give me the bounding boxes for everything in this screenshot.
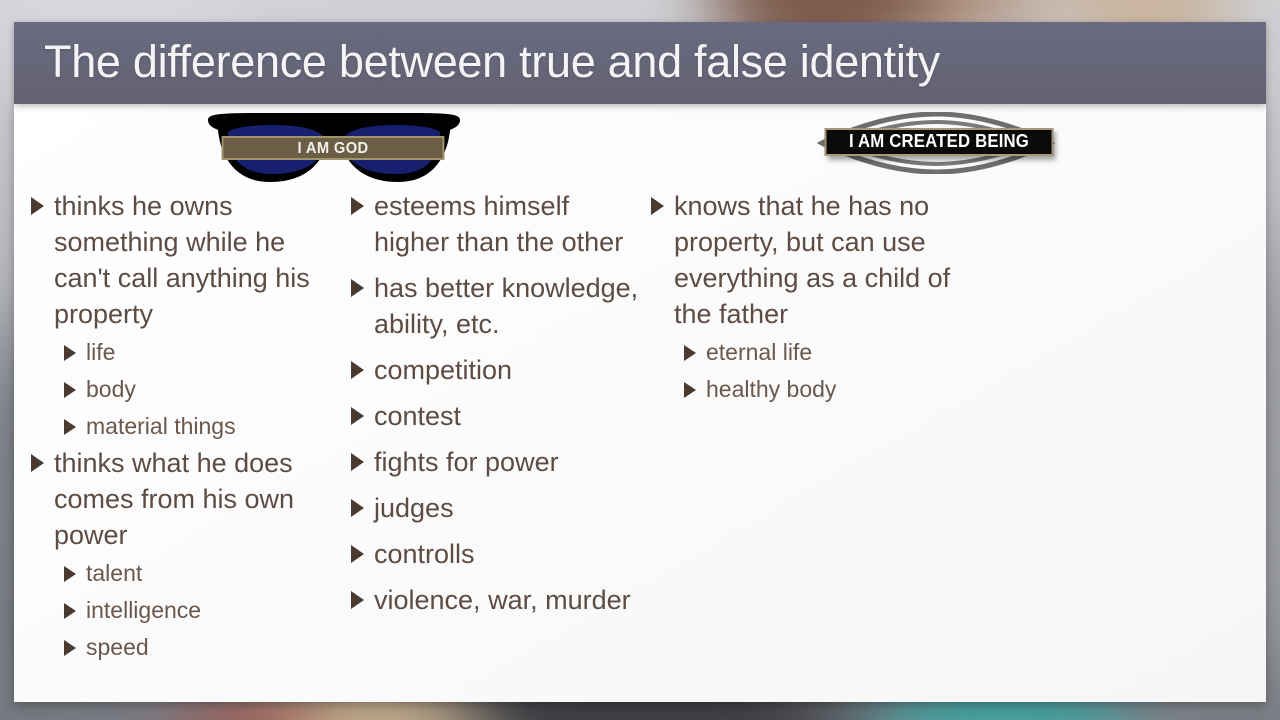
triangle-bullet-icon bbox=[64, 382, 76, 398]
sub-bullet-list: talent intelligence speed bbox=[28, 555, 348, 666]
sub-bullet-item: intelligence bbox=[56, 592, 348, 629]
sub-bullet-text: life bbox=[86, 339, 115, 365]
bullet-item: violence, war, murder bbox=[348, 582, 648, 618]
bullet-item: thinks what he does comes from his own p… bbox=[28, 445, 348, 553]
spacer bbox=[348, 262, 648, 270]
spacer bbox=[348, 436, 648, 444]
bullet-text: has better knowledge, ability, etc. bbox=[374, 273, 638, 339]
triangle-bullet-icon bbox=[351, 545, 364, 563]
sub-bullet-item: material things bbox=[56, 408, 348, 445]
column-1: thinks he owns something while he can't … bbox=[28, 188, 348, 666]
triangle-bullet-icon bbox=[351, 453, 364, 471]
triangle-bullet-icon bbox=[684, 382, 696, 398]
column-2: esteems himself higher than the other ha… bbox=[348, 188, 648, 620]
sub-bullet-item: body bbox=[56, 371, 348, 408]
column-3: knows that he has no property, but can u… bbox=[648, 188, 978, 408]
spacer bbox=[348, 574, 648, 582]
spacer bbox=[348, 528, 648, 536]
slide-stage: The difference between true and false id… bbox=[0, 0, 1280, 720]
i-am-god-banner: I AM GOD bbox=[222, 136, 445, 160]
bullet-text: thinks what he does comes from his own p… bbox=[54, 448, 294, 550]
sub-bullet-text: eternal life bbox=[706, 339, 812, 365]
sub-bullet-item: eternal life bbox=[676, 334, 978, 371]
spacer bbox=[348, 482, 648, 490]
triangle-bullet-icon bbox=[64, 640, 76, 656]
bullet-item: knows that he has no property, but can u… bbox=[648, 188, 978, 332]
triangle-bullet-icon bbox=[351, 591, 364, 609]
triangle-bullet-icon bbox=[351, 279, 364, 297]
sub-bullet-item: speed bbox=[56, 629, 348, 666]
bullet-item: thinks he owns something while he can't … bbox=[28, 188, 348, 332]
triangle-bullet-icon bbox=[64, 419, 76, 435]
lens-ring-graphic: I AM CREATED BEING bbox=[806, 112, 1066, 174]
bullet-text: controlls bbox=[374, 539, 475, 569]
sub-bullet-text: healthy body bbox=[706, 376, 836, 402]
sub-bullet-text: body bbox=[86, 376, 136, 402]
bullet-list-2: esteems himself higher than the other ha… bbox=[348, 188, 648, 618]
sub-bullet-list: life body material things bbox=[28, 334, 348, 445]
bullet-text: competition bbox=[374, 355, 512, 385]
triangle-bullet-icon bbox=[64, 566, 76, 582]
bullet-list-3: knows that he has no property, but can u… bbox=[648, 188, 978, 408]
bullet-item: esteems himself higher than the other bbox=[348, 188, 648, 260]
bullet-item: judges bbox=[348, 490, 648, 526]
triangle-bullet-icon bbox=[351, 361, 364, 379]
sub-bullet-text: material things bbox=[86, 413, 236, 439]
sub-bullet-item: life bbox=[56, 334, 348, 371]
bullet-item: has better knowledge, ability, etc. bbox=[348, 270, 648, 342]
bullet-text: violence, war, murder bbox=[374, 585, 631, 615]
sub-bullet-item: talent bbox=[56, 555, 348, 592]
triangle-bullet-icon bbox=[651, 197, 664, 215]
sub-bullet-text: intelligence bbox=[86, 597, 201, 623]
triangle-bullet-icon bbox=[31, 197, 44, 215]
triangle-bullet-icon bbox=[351, 407, 364, 425]
bullet-text: judges bbox=[374, 493, 454, 523]
triangle-bullet-icon bbox=[31, 454, 44, 472]
sunglasses-graphic: I AM GOD bbox=[198, 112, 470, 188]
bullet-item: controlls bbox=[348, 536, 648, 572]
bullet-item: fights for power bbox=[348, 444, 648, 480]
sub-bullet-item: healthy body bbox=[676, 371, 978, 408]
triangle-bullet-icon bbox=[684, 345, 696, 361]
slide-title-bar: The difference between true and false id… bbox=[14, 22, 1266, 104]
spacer bbox=[348, 344, 648, 352]
spacer bbox=[348, 390, 648, 398]
bullet-text: esteems himself higher than the other bbox=[374, 191, 623, 257]
bullet-list-1: thinks he owns something while he can't … bbox=[28, 188, 348, 666]
bullet-item: contest bbox=[348, 398, 648, 434]
page-title: The difference between true and false id… bbox=[44, 36, 940, 88]
bullet-item: competition bbox=[348, 352, 648, 388]
bullet-text: thinks he owns something while he can't … bbox=[54, 191, 310, 329]
sub-bullet-text: talent bbox=[86, 560, 142, 586]
content-columns: thinks he owns something while he can't … bbox=[0, 188, 1280, 708]
bullet-text: contest bbox=[374, 401, 461, 431]
sub-bullet-list: eternal life healthy body bbox=[648, 334, 978, 408]
sub-bullet-text: speed bbox=[86, 634, 149, 660]
i-am-created-being-banner: I AM CREATED BEING bbox=[825, 128, 1054, 156]
triangle-bullet-icon bbox=[351, 499, 364, 517]
triangle-bullet-icon bbox=[351, 197, 364, 215]
triangle-bullet-icon bbox=[64, 603, 76, 619]
bullet-text: fights for power bbox=[374, 447, 559, 477]
bullet-text: knows that he has no property, but can u… bbox=[674, 191, 950, 329]
triangle-bullet-icon bbox=[64, 345, 76, 361]
